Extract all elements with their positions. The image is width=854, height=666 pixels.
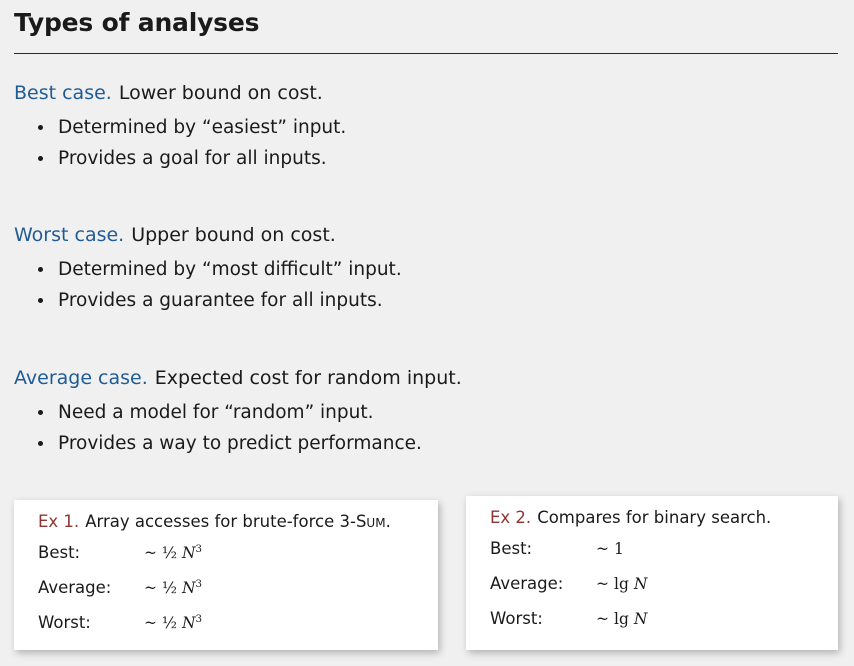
example-card-1: Ex 1.Array accesses for brute-force 3-Su… — [14, 500, 438, 650]
bullet-dot-icon — [38, 267, 43, 272]
page-title: Types of analyses — [14, 8, 259, 37]
section-heading: Worst case.Upper bound on cost. — [14, 222, 402, 248]
tilde-symbol: ~ — [596, 610, 609, 628]
section-description: Expected cost for random input. — [155, 367, 462, 389]
list-item: Determined by “easiest” input. — [14, 112, 346, 143]
section-worst-case: Worst case.Upper bound on cost. Determin… — [14, 222, 402, 316]
list-item-text: Determined by “most difficult” input. — [58, 259, 402, 280]
row-base: N — [182, 614, 196, 632]
list-item-text: Determined by “easiest” input. — [58, 117, 346, 138]
card-tag-label: Ex 2. — [490, 508, 531, 527]
row-base: N — [182, 544, 196, 562]
card-title-text: Compares for binary search. — [537, 508, 771, 527]
list-item-text: Provides a way to predict performance. — [58, 433, 422, 454]
section-heading: Best case.Lower bound on cost. — [14, 80, 346, 106]
section-heading: Average case.Expected cost for random in… — [14, 365, 462, 391]
row-coefficient: 1 — [614, 540, 624, 558]
card-title: Ex 1.Array accesses for brute-force 3-Su… — [38, 511, 391, 533]
tilde-symbol: ~ — [596, 575, 609, 593]
list-item-text: Provides a goal for all inputs. — [58, 148, 327, 169]
row-label: Average: — [490, 574, 594, 593]
card-rows: Best: ~1 Average: ~lg N Worst: ~lg N — [490, 539, 830, 644]
row-coefficient: ½ — [162, 614, 177, 632]
row-base: N — [182, 579, 196, 597]
section-lead-label: Average case. — [14, 367, 148, 389]
section-description: Lower bound on cost. — [119, 82, 323, 104]
row-label: Average: — [38, 578, 142, 597]
section-lead-label: Best case. — [14, 82, 112, 104]
bullet-dot-icon — [38, 410, 43, 415]
example-card-2: Ex 2.Compares for binary search. Best: ~… — [466, 496, 838, 650]
row-exponent: 3 — [196, 614, 203, 625]
row-label: Worst: — [38, 613, 142, 632]
slide-canvas: Types of analyses Best case.Lower bound … — [0, 0, 854, 666]
section-description: Upper bound on cost. — [131, 224, 336, 246]
row-exponent: 3 — [196, 579, 203, 590]
tilde-symbol: ~ — [144, 614, 157, 632]
section-lead-label: Worst case. — [14, 224, 124, 246]
row-value: ~½ N3 — [142, 544, 202, 562]
list-item: Provides a guarantee for all inputs. — [14, 285, 402, 316]
list-item: Determined by “most difficult” input. — [14, 254, 402, 285]
bullet-dot-icon — [38, 156, 43, 161]
table-row: Worst: ~lg N — [490, 609, 830, 644]
list-item-text: Need a model for “random” input. — [58, 402, 374, 423]
section-best-case: Best case.Lower bound on cost. Determine… — [14, 80, 346, 174]
row-base: N — [634, 610, 648, 628]
bullet-list: Determined by “most difficult” input. Pr… — [14, 254, 402, 316]
tilde-symbol: ~ — [144, 579, 157, 597]
row-value: ~½ N3 — [142, 614, 202, 632]
list-item: Provides a way to predict performance. — [14, 428, 462, 459]
row-label: Worst: — [490, 609, 594, 628]
bullet-list: Need a model for “random” input. Provide… — [14, 397, 462, 459]
row-label: Best: — [490, 539, 594, 558]
tilde-symbol: ~ — [596, 540, 609, 558]
card-title-smallcaps: Sum — [356, 512, 386, 531]
bullet-dot-icon — [38, 298, 43, 303]
tilde-symbol: ~ — [144, 544, 157, 562]
list-item: Provides a goal for all inputs. — [14, 143, 346, 174]
title-divider — [14, 53, 838, 54]
row-label: Best: — [38, 543, 142, 562]
bullet-dot-icon — [38, 125, 43, 130]
card-rows: Best: ~½ N3 Average: ~½ N3 Worst: ~½ N3 — [38, 543, 430, 648]
card-title: Ex 2.Compares for binary search. — [490, 507, 771, 529]
table-row: Best: ~½ N3 — [38, 543, 430, 578]
bullet-dot-icon — [38, 441, 43, 446]
row-coefficient: lg — [614, 610, 629, 628]
row-coefficient: ½ — [162, 579, 177, 597]
card-title-suffix: . — [386, 512, 391, 531]
row-coefficient: lg — [614, 575, 629, 593]
table-row: Worst: ~½ N3 — [38, 613, 430, 648]
bullet-list: Determined by “easiest” input. Provides … — [14, 112, 346, 174]
row-value: ~1 — [594, 540, 624, 558]
list-item-text: Provides a guarantee for all inputs. — [58, 290, 383, 311]
row-base: N — [634, 575, 648, 593]
row-value: ~lg N — [594, 575, 647, 593]
section-average-case: Average case.Expected cost for random in… — [14, 365, 462, 459]
row-value: ~lg N — [594, 610, 647, 628]
card-tag-label: Ex 1. — [38, 512, 79, 531]
table-row: Best: ~1 — [490, 539, 830, 574]
row-value: ~½ N3 — [142, 579, 202, 597]
row-exponent: 3 — [196, 544, 203, 555]
card-title-text: Array accesses for brute-force 3- — [85, 512, 356, 531]
table-row: Average: ~lg N — [490, 574, 830, 609]
table-row: Average: ~½ N3 — [38, 578, 430, 613]
list-item: Need a model for “random” input. — [14, 397, 462, 428]
row-coefficient: ½ — [162, 544, 177, 562]
